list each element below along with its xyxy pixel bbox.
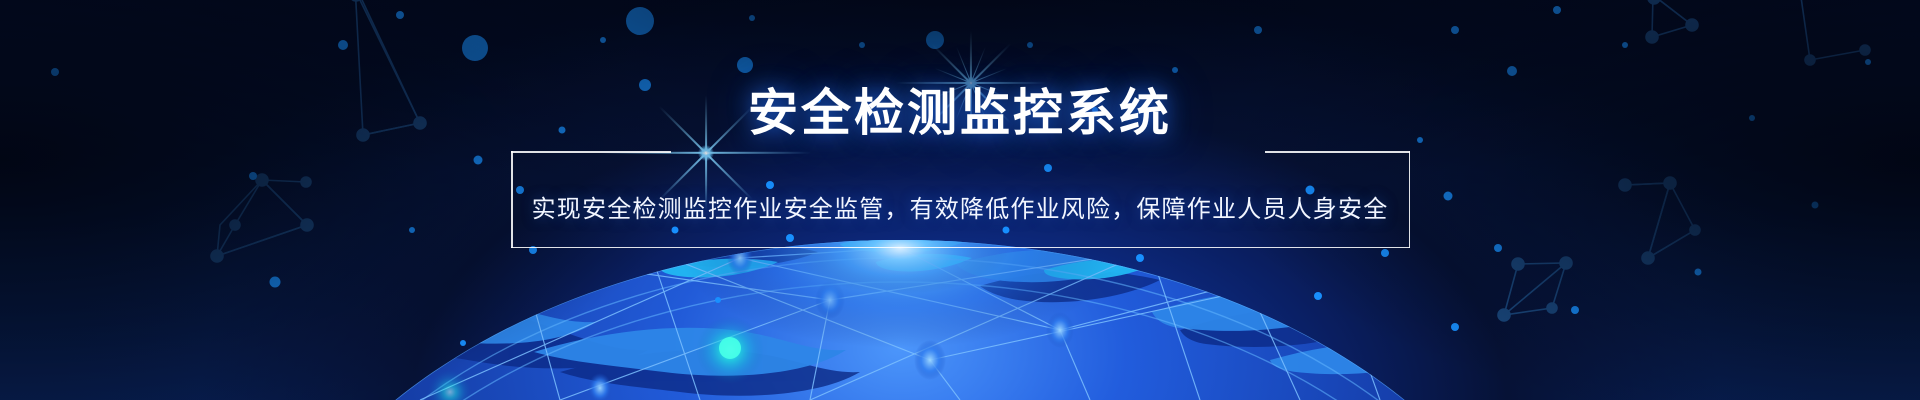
security-monitoring-banner: 安全检测监控系统 实现安全检测监控作业安全监管，有效降低作业风险，保障作业人员人… — [0, 0, 1920, 400]
banner-subtitle: 实现安全检测监控作业安全监管，有效降低作业风险，保障作业人员人身安全 — [0, 196, 1920, 225]
banner-title: 安全检测监控系统 — [0, 88, 1920, 138]
